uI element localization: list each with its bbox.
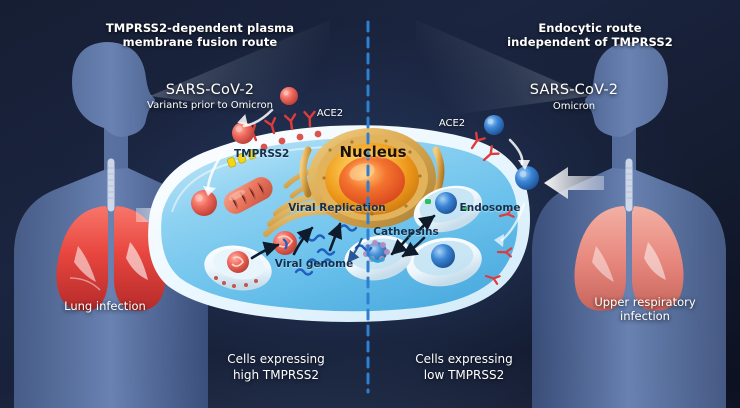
virion-left-1 (280, 87, 298, 105)
uncoated-virion (273, 231, 297, 255)
illustration (0, 0, 740, 408)
virion-right-2 (515, 166, 539, 190)
virion-left-3 (191, 190, 217, 216)
virion-right-1 (484, 115, 504, 135)
figure-canvas: TMPRSS2-dependent plasma membrane fusion… (0, 0, 740, 408)
